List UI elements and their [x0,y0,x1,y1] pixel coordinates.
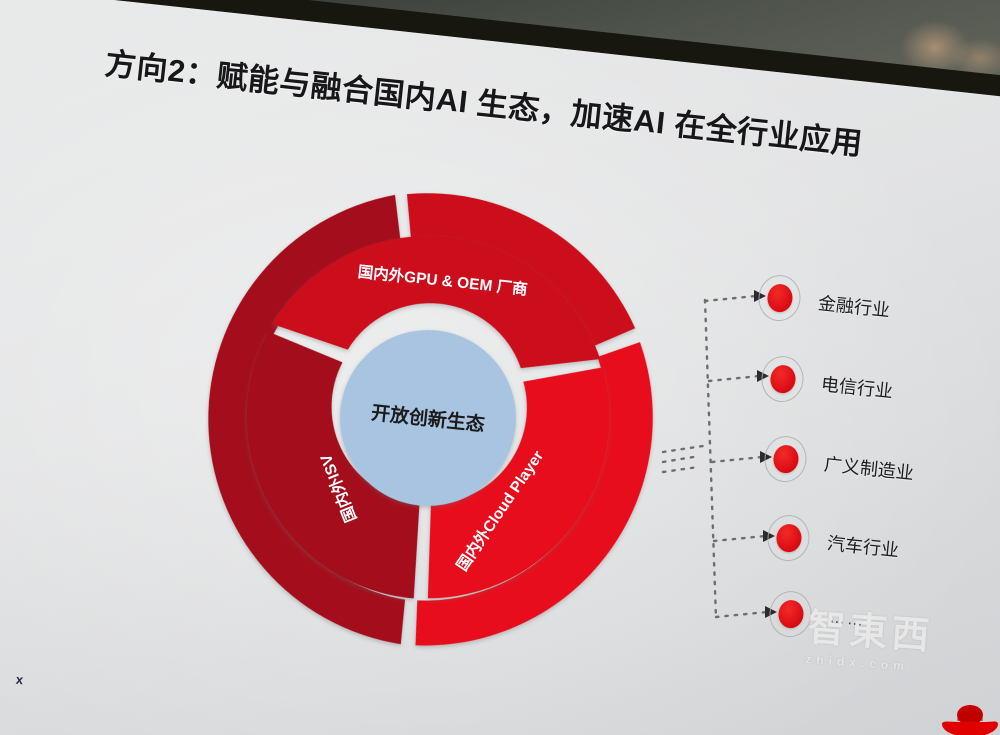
watermark: 智東西 zhidx.com [803,609,978,699]
bullet-icon [762,434,811,486]
photo-stage: 方向2：赋能与融合国内AI 生态，加速AI 在全行业应用 [0,0,1000,735]
list-item-label: 金融行业 [817,289,891,322]
list-item-label: 汽车行业 [826,529,900,562]
bullet-icon [756,273,805,325]
bullet-icon [759,354,808,406]
list-item-label: 电信行业 [820,370,894,403]
bullet-icon [765,513,814,565]
red-hat-logo-icon [938,697,1000,735]
list-item-label: 广义制造业 [823,450,915,485]
corner-x-mark: x [15,672,24,688]
